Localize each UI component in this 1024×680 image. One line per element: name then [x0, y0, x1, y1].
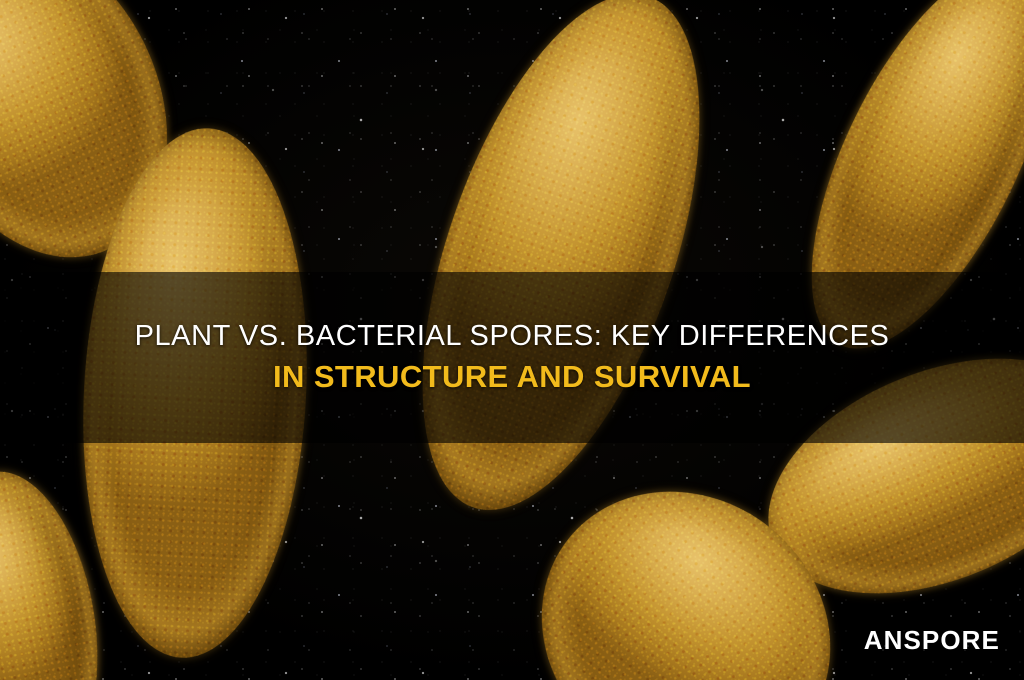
brand-watermark: ANSPORE: [864, 625, 1000, 656]
title-line-2: IN STRUCTURE AND SURVIVAL: [273, 361, 751, 394]
title-line-1: PLANT VS. BACTERIAL SPORES: KEY DIFFEREN…: [135, 321, 890, 351]
micrograph-banner-image: PLANT VS. BACTERIAL SPORES: KEY DIFFEREN…: [0, 0, 1024, 680]
title-banner: PLANT VS. BACTERIAL SPORES: KEY DIFFEREN…: [0, 272, 1024, 443]
